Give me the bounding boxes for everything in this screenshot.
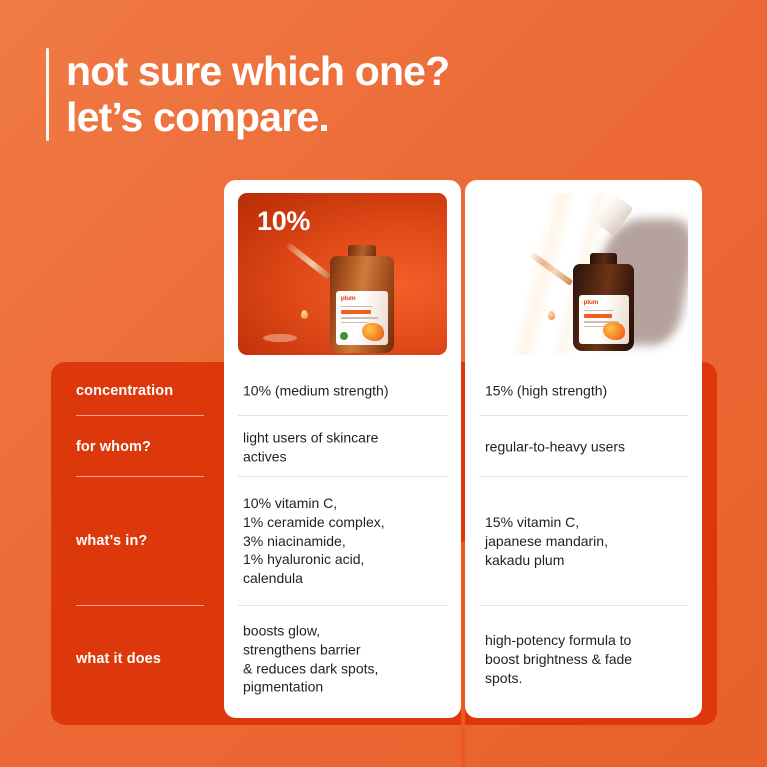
row-divider-1 [76,415,204,416]
card-separator [461,542,465,767]
cell-whats-in-15: 15% vitamin C, japanese mandarin, kakadu… [485,513,685,569]
bottle-label: plum [579,295,629,344]
fruit-illustration [603,322,625,340]
label-highlight-bar [341,310,371,314]
serum-bottle: plum [573,245,634,351]
label-text-line [584,310,614,312]
label-highlight-bar [584,314,613,318]
product-card-15[interactable]: 15% plum 15% (high s [465,180,702,718]
row-label-for-whom: for whom? [76,439,204,455]
concentration-badge-10: 10% [257,206,310,237]
cell-what-it-does-15: high-potency formula to boost brightness… [485,631,685,687]
cell-for-whom-10: light users of skincare actives [243,428,443,466]
serum-droplet [301,310,308,319]
label-text-line [341,317,378,319]
bottle-body: plum [330,256,394,353]
label-text-line [341,306,373,308]
serum-bottle: plum [330,235,394,353]
comparison-row-labels: concentration for whom? what’s in? what … [51,362,224,725]
comparison-panel: concentration for whom? what’s in? what … [51,362,717,725]
cell-divider-2 [479,476,688,477]
row-label-whats-in: what’s in? [76,533,204,549]
product-photo-15: 15% plum [479,193,688,355]
label-text-line [341,322,368,324]
cell-divider-3 [479,605,688,606]
bottle-body: plum [573,264,634,351]
cell-concentration-15: 15% (high strength) [485,382,685,401]
cell-divider-1 [238,415,447,416]
bottle-brand-name: plum [584,300,625,307]
headline-accent-bar [46,48,49,141]
cell-concentration-10: 10% (medium strength) [243,382,443,401]
product-cells-15: 15% (high strength) regular-to-heavy use… [465,362,702,718]
concentration-badge-15: 15% [498,206,551,237]
cell-what-it-does-10: boosts glow, strengthens barrier & reduc… [243,622,443,697]
bottle-brand-name: plum [341,296,384,303]
cell-divider-3 [238,605,447,606]
fruit-illustration [362,323,384,341]
headline-text: not sure which one? let’s compare. [66,48,449,141]
page-headline: not sure which one? let’s compare. [46,48,449,141]
cell-whats-in-10: 10% vitamin C, 1% ceramide complex, 3% n… [243,494,443,588]
row-label-what-it-does: what it does [76,651,204,667]
eco-badge-icon [340,332,348,340]
cell-divider-2 [238,476,447,477]
product-card-10[interactable]: 10% plum [224,180,461,718]
cell-divider-1 [479,415,688,416]
row-divider-3 [76,605,204,606]
serum-droplet [548,311,555,320]
product-cells-10: 10% (medium strength) light users of ski… [224,362,461,718]
row-label-concentration: concentration [76,383,204,399]
bottle-label: plum [336,291,388,345]
cell-for-whom-15: regular-to-heavy users [485,438,685,457]
product-photo-10: 10% plum [238,193,447,355]
row-divider-2 [76,476,204,477]
